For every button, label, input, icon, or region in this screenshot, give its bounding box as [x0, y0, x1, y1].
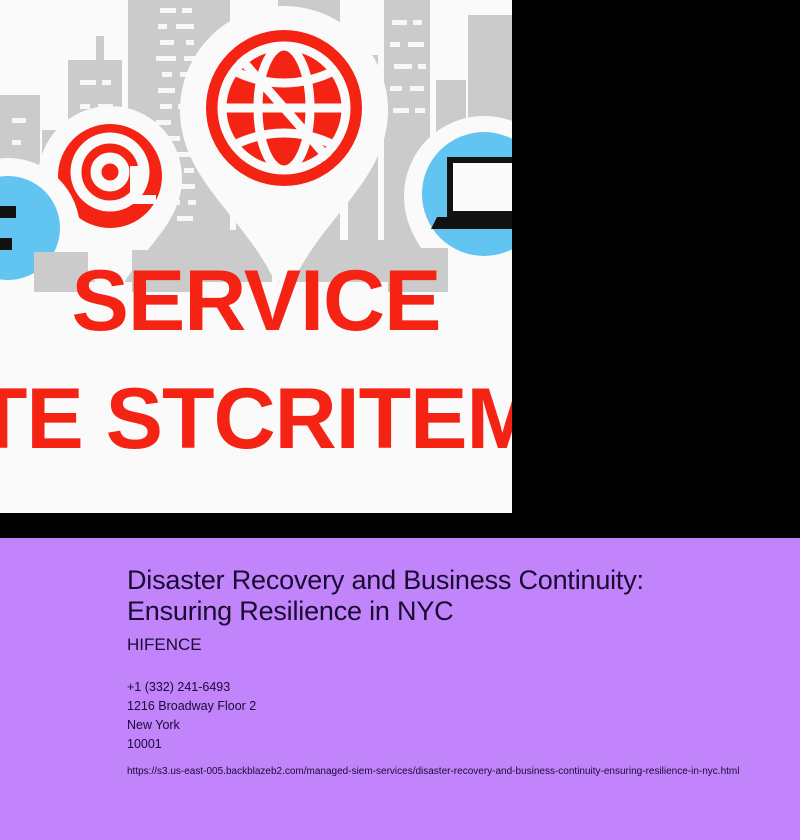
article-title: Disaster Recovery and Business Continuit…	[127, 565, 707, 627]
article-url[interactable]: https://s3.us-east-005.backblazeb2.com/m…	[127, 763, 800, 780]
contact-city: New York	[127, 716, 800, 735]
featured-article-image: SERVICE TE STCRITEM	[0, 0, 512, 513]
hero-headline-line-1: SERVICE	[72, 253, 441, 349]
hero-illustration: SERVICE TE STCRITEM	[0, 0, 512, 513]
contact-phone[interactable]: +1 (332) 241-6493	[127, 678, 800, 697]
contact-street: 1216 Broadway Floor 2	[127, 697, 800, 716]
article-panel: Disaster Recovery and Business Continuit…	[0, 538, 800, 840]
hero-headline-line-2: TE STCRITEM	[0, 371, 512, 467]
article-brand: HIFENCE	[127, 634, 800, 656]
article-content: Disaster Recovery and Business Continuit…	[127, 565, 800, 780]
contact-zip: 10001	[127, 735, 800, 754]
contact-block: +1 (332) 241-6493 1216 Broadway Floor 2 …	[127, 678, 800, 754]
page-root: SERVICE TE STCRITEM Disaster Recovery an…	[0, 0, 800, 840]
